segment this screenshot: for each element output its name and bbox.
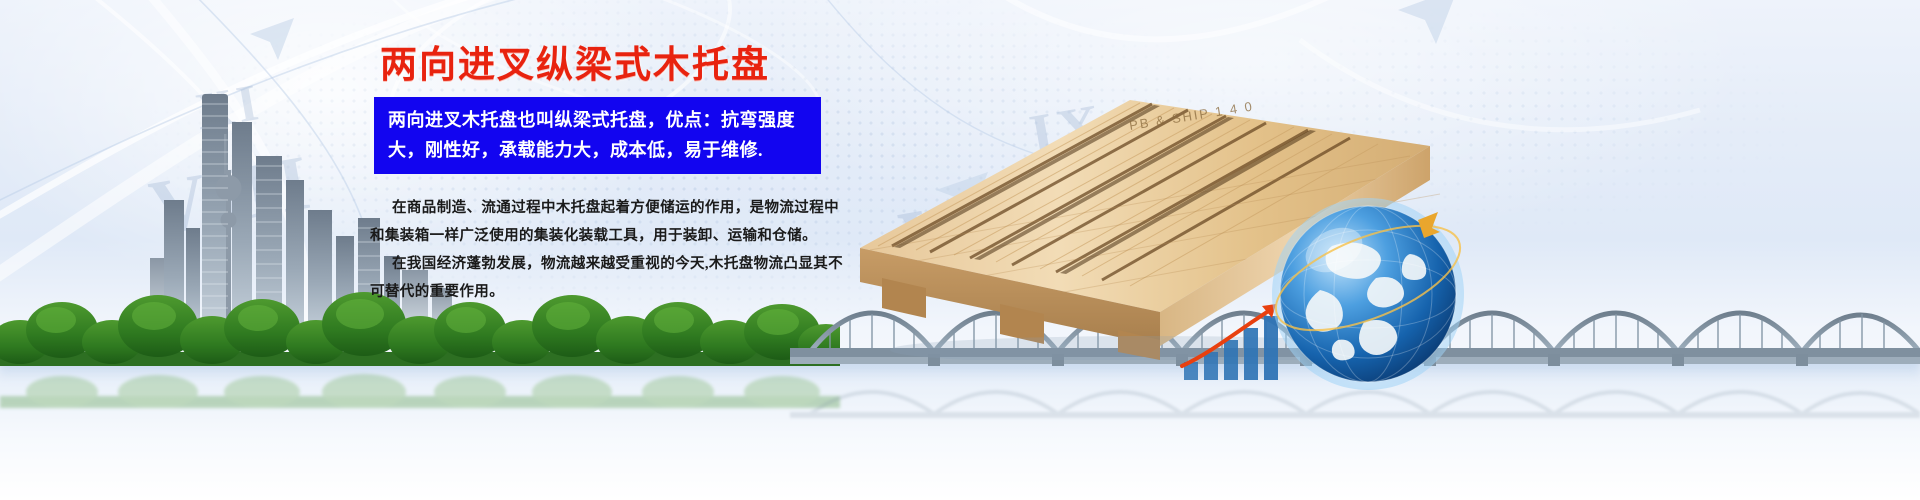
body-line-4: 可替代的重要作用。 [370, 278, 850, 306]
earth-globe [1268, 194, 1468, 394]
promo-banner: VIII XI VII IX [0, 0, 1920, 500]
tree-line-reflection [0, 362, 840, 408]
banner-text-block: 两向进叉纵梁式木托盘 两向进叉木托盘也叫纵梁式托盘，优点：抗弯强度 大，刚性好，… [360, 46, 860, 306]
page-title: 两向进叉纵梁式木托盘 [380, 46, 860, 87]
body-description: 在商品制造、流通过程中木托盘起着方便储运的作用，是物流过程中 和集装箱一样广泛使… [370, 194, 850, 306]
body-line-1: 在商品制造、流通过程中木托盘起着方便储运的作用，是物流过程中 [370, 194, 850, 222]
highlight-line-2: 大，刚性好，承载能力大，成本低，易于维修. [388, 135, 809, 165]
highlight-line-1: 两向进叉木托盘也叫纵梁式托盘，优点：抗弯强度 [388, 105, 809, 135]
highlight-callout-box: 两向进叉木托盘也叫纵梁式托盘，优点：抗弯强度 大，刚性好，承载能力大，成本低，易… [374, 97, 821, 174]
body-line-2: 和集装箱一样广泛使用的集装化装载工具，用于装卸、运输和仓储。 [370, 222, 850, 250]
body-line-3: 在我国经济蓬勃发展，物流越来越受重视的今天,木托盘物流凸显其不 [370, 250, 850, 278]
